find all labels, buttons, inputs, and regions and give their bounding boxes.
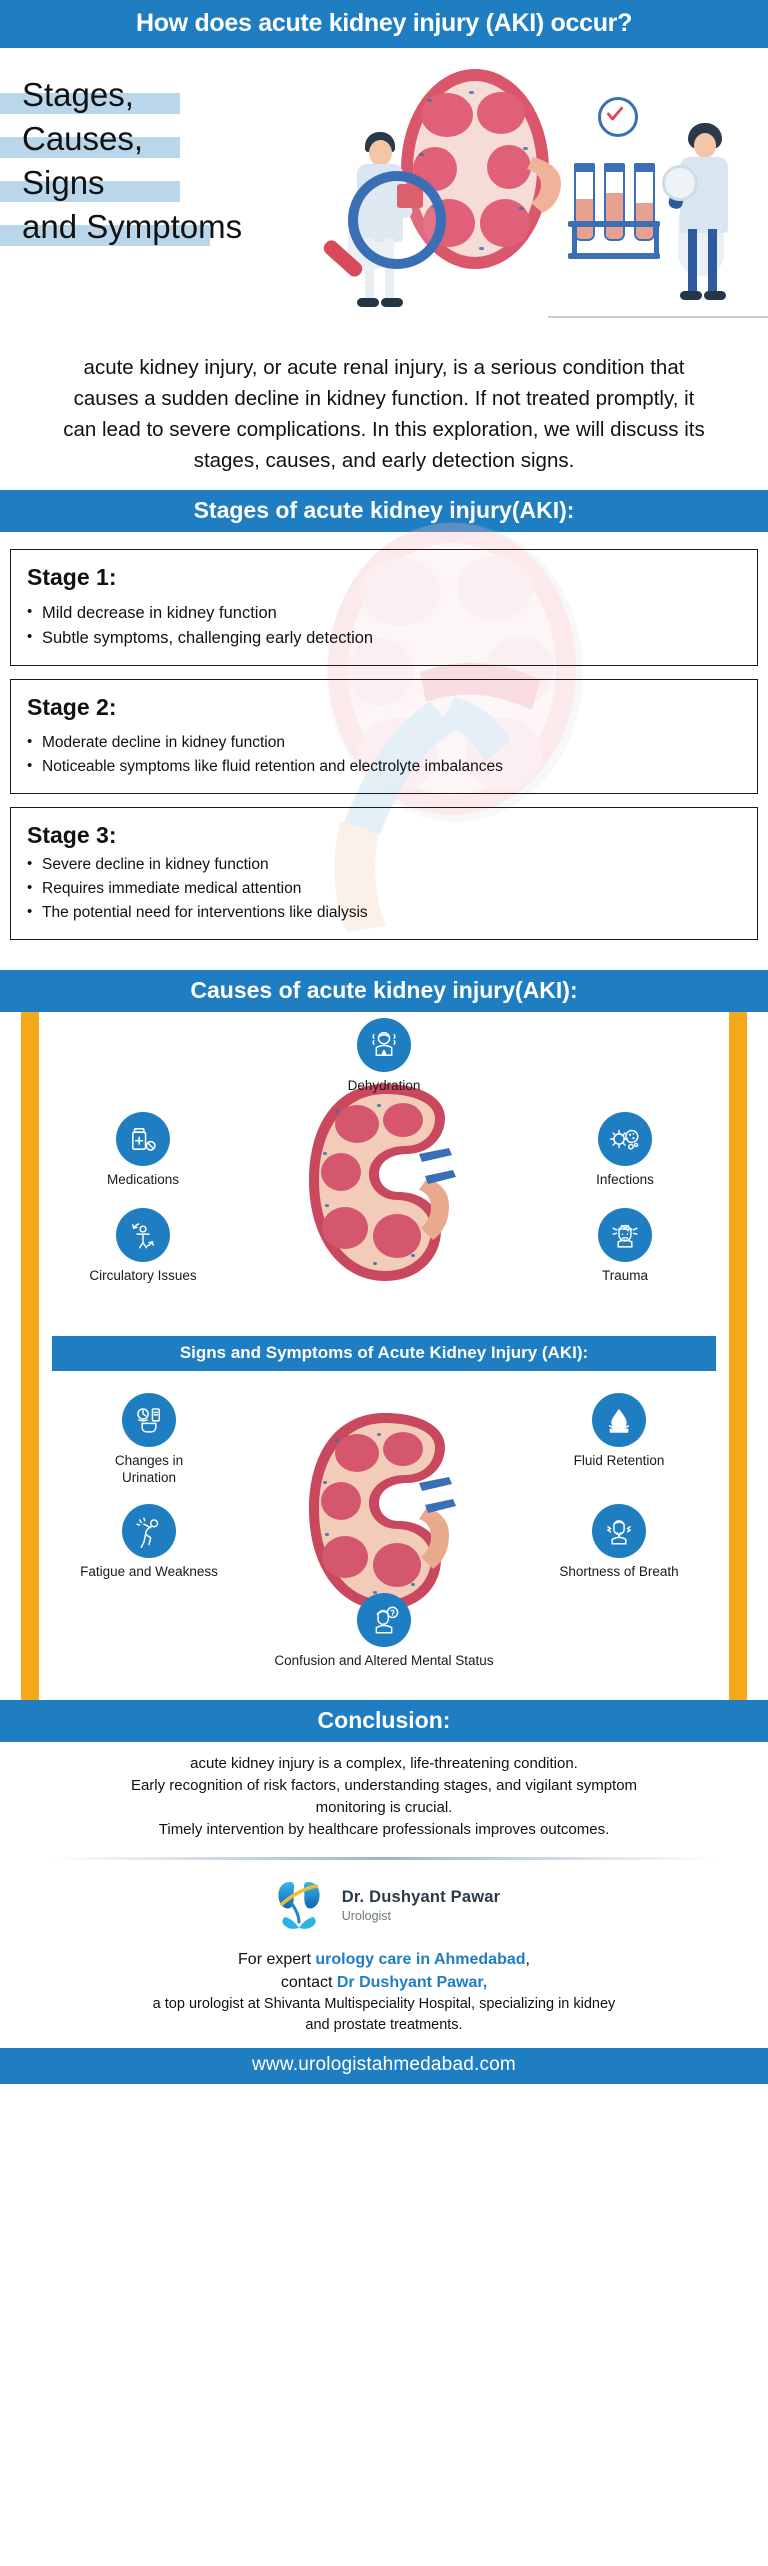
cta-line-1: For expert urology care in Ahmedabad, bbox=[34, 1948, 734, 1971]
tired-person-icon bbox=[122, 1504, 176, 1558]
hero-title-line: Stages, bbox=[18, 73, 246, 117]
causes-symptoms-block: Dehydration Medications bbox=[0, 1012, 768, 1700]
cta-text: For expert urology care in Ahmedabad, co… bbox=[0, 1946, 768, 2048]
list-item: Subtle symptoms, challenging early detec… bbox=[27, 626, 741, 650]
cta-line-4: and prostate treatments. bbox=[34, 2015, 734, 2036]
symptoms-icon-area: Changes in Urination Fluid Retention bbox=[0, 1371, 768, 1700]
kidney-illustration-icon bbox=[299, 1080, 469, 1285]
hero-section: Stages, Causes, Signs and Symptoms bbox=[0, 51, 768, 336]
conclusion-line: Early recognition of risk factors, under… bbox=[30, 1775, 738, 1797]
cta-suffix: , bbox=[526, 1951, 530, 1968]
cta-line-3: a top urologist at Shivanta Multispecial… bbox=[34, 1994, 734, 2015]
cause-item-infections: Infections bbox=[550, 1112, 700, 1188]
symptom-label-line: Urination bbox=[74, 1469, 224, 1486]
stage-bullet-list: Severe decline in kidney function Requir… bbox=[27, 853, 741, 924]
symptom-label: Fluid Retention bbox=[544, 1452, 694, 1469]
sweating-person-icon bbox=[357, 1018, 411, 1072]
doctor-name: Dr. Dushyant Pawar bbox=[342, 1888, 501, 1907]
stage-card: Stage 2: Moderate decline in kidney func… bbox=[10, 679, 758, 794]
cause-label: Circulatory Issues bbox=[68, 1267, 218, 1284]
list-item: Requires immediate medical attention bbox=[27, 877, 741, 900]
cta-prefix: contact bbox=[281, 1974, 337, 1991]
footer-divider bbox=[48, 1857, 720, 1860]
hero-illustration bbox=[248, 51, 768, 336]
pill-bottle-icon bbox=[116, 1112, 170, 1166]
stages-banner: Stages of acute kidney injury(AKI): bbox=[0, 490, 768, 532]
page-title: How does acute kidney injury (AKI) occur… bbox=[0, 0, 768, 48]
causes-icon-area: Dehydration Medications bbox=[0, 1012, 768, 1336]
causes-banner: Causes of acute kidney injury(AKI): bbox=[0, 970, 768, 1012]
conclusion-line: Timely intervention by healthcare profes… bbox=[30, 1819, 738, 1841]
brand-block: Dr. Dushyant Pawar Urologist bbox=[0, 1870, 768, 1946]
stage-card: Stage 1: Mild decrease in kidney functio… bbox=[10, 549, 758, 666]
check-circle-icon bbox=[598, 97, 638, 137]
symptom-label: Confusion and Altered Mental Status bbox=[234, 1652, 534, 1669]
test-tubes-icon bbox=[570, 163, 662, 271]
breathless-person-icon bbox=[592, 1504, 646, 1558]
conclusion-banner: Conclusion: bbox=[0, 1700, 768, 1742]
stage-card: Stage 3: Severe decline in kidney functi… bbox=[10, 807, 758, 940]
doctor-right-figure bbox=[664, 121, 746, 316]
virus-bacteria-icon bbox=[598, 1112, 652, 1166]
hero-title-line: Causes, bbox=[18, 117, 246, 161]
brand-text: Dr. Dushyant Pawar Urologist bbox=[342, 1888, 501, 1923]
symptom-label: Fatigue and Weakness bbox=[74, 1563, 224, 1580]
list-item: Severe decline in kidney function bbox=[27, 853, 741, 876]
blood-circulation-icon bbox=[116, 1208, 170, 1262]
cause-label: Infections bbox=[550, 1171, 700, 1188]
symptom-item-fluid-retention: Fluid Retention bbox=[544, 1393, 694, 1469]
cta-line-2: contact Dr Dushyant Pawar, bbox=[34, 1971, 734, 1994]
magnifying-glass-icon bbox=[348, 171, 446, 269]
cta-highlight: Dr Dushyant Pawar, bbox=[337, 1974, 487, 1991]
stages-section: Stage 1: Mild decrease in kidney functio… bbox=[0, 532, 768, 956]
head-injury-icon bbox=[598, 1208, 652, 1262]
cause-item-trauma: Trauma bbox=[550, 1208, 700, 1284]
cause-label: Trauma bbox=[550, 1267, 700, 1284]
list-item: Noticeable symptoms like fluid retention… bbox=[27, 755, 741, 778]
list-item: The potential need for interventions lik… bbox=[27, 901, 741, 924]
stage-bullet-list: Mild decrease in kidney function Subtle … bbox=[27, 601, 741, 650]
list-item: Mild decrease in kidney function bbox=[27, 601, 741, 625]
cta-prefix: For expert bbox=[238, 1951, 315, 1968]
cause-item-circulatory-issues: Circulatory Issues bbox=[68, 1208, 218, 1284]
cause-item-medications: Medications bbox=[68, 1112, 218, 1188]
list-item: Moderate decline in kidney function bbox=[27, 731, 741, 754]
water-drop-icon bbox=[592, 1393, 646, 1447]
cause-label: Medications bbox=[68, 1171, 218, 1188]
kidney-illustration-icon bbox=[299, 1409, 469, 1614]
symptom-item-confusion: Confusion and Altered Mental Status bbox=[234, 1593, 534, 1669]
intro-paragraph: acute kidney injury, or acute renal inju… bbox=[0, 336, 768, 490]
cta-highlight: urology care in Ahmedabad bbox=[315, 1951, 525, 1968]
doctor-role: Urologist bbox=[342, 1909, 501, 1923]
symptom-label: Changes in Urination bbox=[74, 1452, 224, 1486]
symptom-item-fatigue-and-weakness: Fatigue and Weakness bbox=[74, 1504, 224, 1580]
symptoms-banner: Signs and Symptoms of Acute Kidney Injur… bbox=[52, 1336, 716, 1371]
symptom-label-line: Changes in bbox=[74, 1452, 224, 1469]
cause-item-dehydration: Dehydration bbox=[309, 1018, 459, 1094]
symptom-item-changes-in-urination: Changes in Urination bbox=[74, 1393, 224, 1486]
conclusion-line: acute kidney injury is a complex, life-t… bbox=[30, 1753, 738, 1775]
symptom-item-shortness-of-breath: Shortness of Breath bbox=[544, 1504, 694, 1580]
conclusion-line: monitoring is crucial. bbox=[30, 1797, 738, 1819]
stage-bullet-list: Moderate decline in kidney function Noti… bbox=[27, 731, 741, 778]
stage-title: Stage 1: bbox=[27, 564, 741, 591]
hero-title-line: and Symptoms bbox=[18, 205, 246, 249]
conclusion-text: acute kidney injury is a complex, life-t… bbox=[0, 1742, 768, 1851]
website-url[interactable]: www.urologistahmedabad.com bbox=[0, 2048, 768, 2084]
kidney-hands-logo bbox=[268, 1874, 330, 1936]
hero-title-line: Signs bbox=[18, 161, 246, 205]
infographic-page: How does acute kidney injury (AKI) occur… bbox=[0, 0, 768, 2084]
symptom-label: Shortness of Breath bbox=[544, 1563, 694, 1580]
confused-person-icon bbox=[357, 1593, 411, 1647]
stage-title: Stage 3: bbox=[27, 822, 741, 849]
toilet-urination-icon bbox=[122, 1393, 176, 1447]
stage-title: Stage 2: bbox=[27, 694, 741, 721]
hero-title: Stages, Causes, Signs and Symptoms bbox=[18, 73, 246, 249]
cause-label: Dehydration bbox=[309, 1077, 459, 1094]
